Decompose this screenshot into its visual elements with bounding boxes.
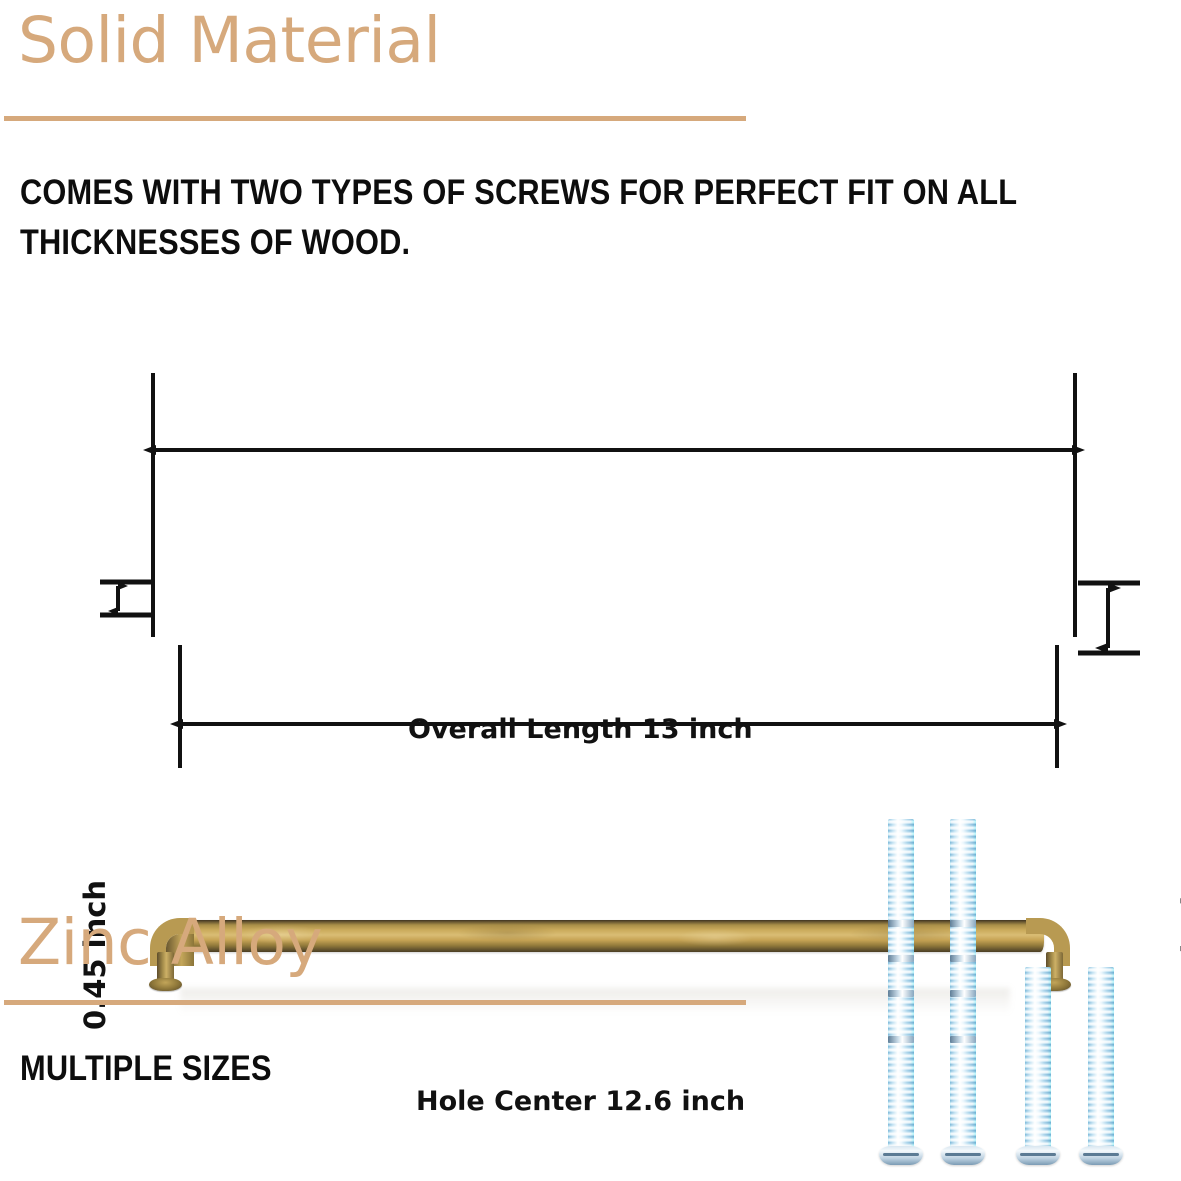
screw-long-1-shaft — [888, 819, 914, 1149]
dimension-diagram: Overall Length 13 inch Hole Center 12.6 … — [0, 340, 1181, 800]
screw-short-2-head — [1079, 1146, 1123, 1165]
screw-long-2-shaft — [950, 819, 976, 1149]
handle-leg-left-foot — [149, 978, 182, 991]
screw-long-2-groove-2 — [950, 955, 976, 962]
heading-divider-top — [4, 116, 746, 121]
screw-short-1-shaft — [1025, 967, 1051, 1149]
screw-long-1-head — [879, 1146, 923, 1165]
screw-long-2-groove-3 — [950, 990, 976, 997]
screw-short-2-shaft — [1088, 967, 1114, 1149]
screw-long-1-groove-2 — [888, 955, 914, 962]
section-heading-solid-material: Solid Material — [18, 9, 441, 72]
screw-long-2-groove-4 — [950, 1036, 976, 1043]
section-heading-zinc-alloy: Zinc Alloy — [18, 911, 322, 974]
screw-short-1-head — [1016, 1146, 1060, 1165]
screw-long-1-groove-3 — [888, 990, 914, 997]
screw-long-1-groove-4 — [888, 1036, 914, 1043]
product-infographic: Solid Material COMES WITH TWO TYPES OF S… — [0, 0, 1181, 1181]
screw-set-image — [880, 790, 1180, 1165]
screw-long-2-head — [941, 1146, 985, 1165]
section-body-multiple-sizes: MULTIPLE SIZES — [20, 1051, 636, 1086]
heading-divider-bottom — [4, 1000, 746, 1005]
section-body-screws: COMES WITH TWO TYPES OF SCREWS FOR PERFE… — [20, 168, 1181, 267]
screw-long-2-groove-1 — [950, 920, 976, 927]
dimension-label-overall-length: Overall Length 13 inch — [408, 714, 753, 745]
screw-long-1-groove-1 — [888, 920, 914, 927]
dimension-label-hole-center: Hole Center 12.6 inch — [416, 1086, 745, 1117]
